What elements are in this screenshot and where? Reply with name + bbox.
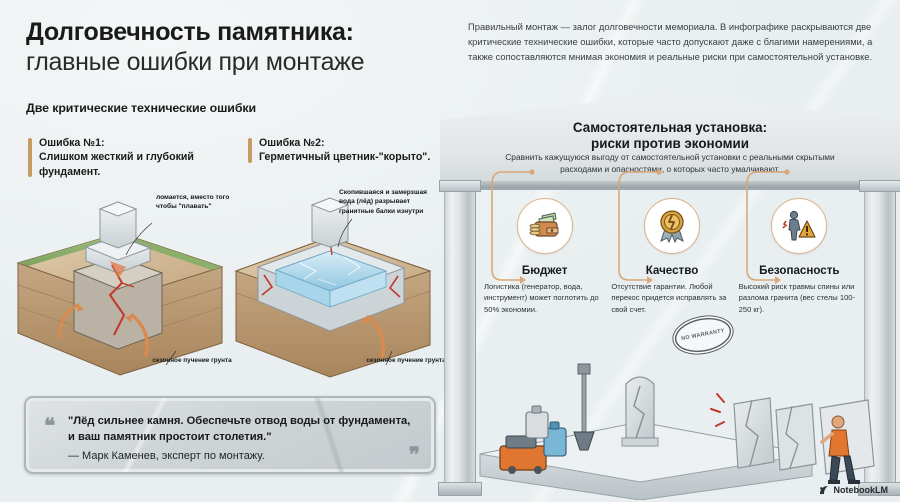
notebooklm-logo-icon: [818, 484, 830, 496]
panel-title: Самостоятельная установка: риски против …: [498, 120, 842, 152]
cracked-headstone: [622, 377, 658, 446]
error-1-callout: ломается, вместо того чтобы "плавать": [156, 193, 238, 212]
worker-figure: [820, 400, 874, 484]
self-install-panel: Самостоятельная установка: риски против …: [440, 94, 900, 502]
risk-card-budget: Бюджет Логистика (генератор, вода, инстр…: [484, 198, 605, 315]
illustration-area: ломается, вместо того чтобы "плавать" Ск…: [0, 175, 452, 390]
quote-text: "Лёд сильнее камня. Обеспечьте отвод вод…: [68, 414, 418, 446]
risk-card-safety-body: Высокий риск травмы спины или разлома гр…: [739, 281, 860, 315]
error-2-callout: Скопившаяся и замерзшая вода (лёд) разры…: [339, 188, 439, 216]
footer-brand: NotebookLM: [818, 484, 889, 496]
quote-author: — Марк Каменев, эксперт по монтажу.: [68, 450, 265, 462]
quote-close-mark: ❞: [409, 445, 420, 466]
error-1-scene: [18, 202, 222, 375]
panel-title-line-1: Самостоятельная установка:: [498, 120, 842, 136]
panel-title-line-2: риски против экономии: [498, 136, 842, 152]
connector-line-quality: [613, 166, 673, 286]
expert-quote-block: ❝ ❞ "Лёд сильнее камня. Обеспечьте отвод…: [24, 396, 436, 474]
brand-label: NotebookLM: [834, 485, 889, 495]
risk-card-safety: Безопасность Высокий риск травмы спины и…: [739, 198, 860, 315]
risk-cards: Бюджет Логистика (генератор, вода, инстр…: [484, 198, 860, 315]
error-2-scene: [236, 198, 430, 377]
quote-open-mark: ❝: [44, 416, 55, 437]
panel-bottom-illustration: [440, 350, 900, 500]
risk-card-budget-body: Логистика (генератор, вода, инструмент) …: [484, 281, 605, 315]
error-2-ground-label: сезонное пучение грунта: [366, 357, 446, 366]
section-heading: Две критические технические ошибки: [26, 101, 256, 115]
risk-card-quality-body: Отсутствие гарантии. Любой перекос приде…: [611, 281, 732, 315]
connector-line-budget: [486, 166, 546, 286]
risk-card-quality: Качество Отсутствие гарантии. Любой пере…: [611, 198, 732, 315]
title-line-2: главные ошибки при монтаже: [26, 48, 446, 78]
page-title: Долговечность памятника: главные ошибки …: [26, 18, 446, 78]
infographic-page: Долговечность памятника: главные ошибки …: [0, 0, 900, 502]
connector-line-safety: [741, 166, 801, 286]
error-label-2: Ошибка №2: Герметичный цветник-"корыто".: [248, 136, 459, 165]
intro-paragraph: Правильный монтаж — залог долговечности …: [468, 20, 888, 65]
error-1-ground-label: сезонное пучение грунта: [152, 357, 232, 366]
error-2-title: Ошибка №2:: [259, 136, 459, 150]
error-1-title: Ошибка №1:: [39, 136, 239, 150]
error-2-body: Герметичный цветник-"корыто".: [259, 150, 459, 164]
error-label-1: Ошибка №1: Слишком жесткий и глубокий фу…: [28, 136, 239, 179]
title-line-1: Долговечность памятника:: [26, 18, 446, 46]
